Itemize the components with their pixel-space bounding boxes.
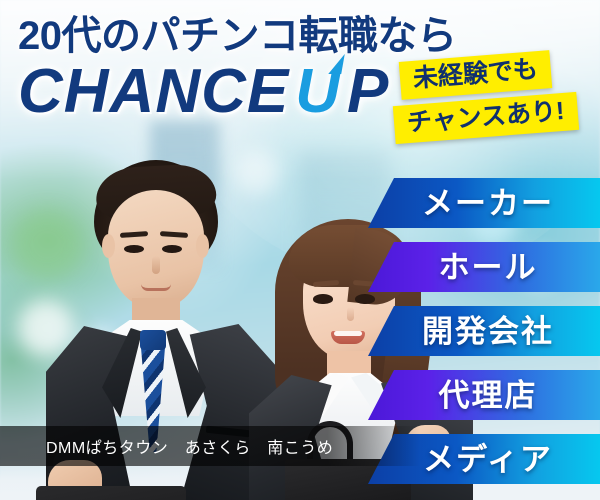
headline-block: 20代のパチンコ転職なら CHANCE U P xyxy=(18,16,418,123)
chance-up-logo: CHANCE U P xyxy=(18,61,418,123)
category-label: 代理店 xyxy=(368,380,600,411)
up-arrow-icon xyxy=(328,54,345,74)
category-label: 開発会社 xyxy=(368,316,600,347)
logo-text-u: U xyxy=(295,61,341,123)
category-button-hall[interactable]: ホール xyxy=(368,242,600,292)
category-label: ホール xyxy=(368,252,600,283)
credit-text: DMMぱちタウン あさくら 南こうめ xyxy=(0,434,333,458)
category-button-developer[interactable]: 開発会社 xyxy=(368,306,600,356)
logo-text-chance: CHANCE xyxy=(18,61,289,123)
category-button-maker[interactable]: メーカー xyxy=(368,178,600,228)
headline-line1: 20代のパチンコ転職なら xyxy=(18,16,418,56)
category-button-agency[interactable]: 代理店 xyxy=(368,370,600,420)
recruitment-banner[interactable]: 20代のパチンコ転職なら CHANCE U P 未経験でも チャンスあり! メー… xyxy=(0,0,600,500)
credit-bar: DMMぱちタウン あさくら 南こうめ xyxy=(0,426,420,466)
logo-text-p: P xyxy=(347,61,389,123)
badge-line-1: 未経験でも xyxy=(399,50,553,100)
experience-badge: 未経験でも チャンスあり! xyxy=(394,56,600,138)
badge-line-2: チャンスあり! xyxy=(393,92,579,145)
category-label: メーカー xyxy=(368,188,600,219)
